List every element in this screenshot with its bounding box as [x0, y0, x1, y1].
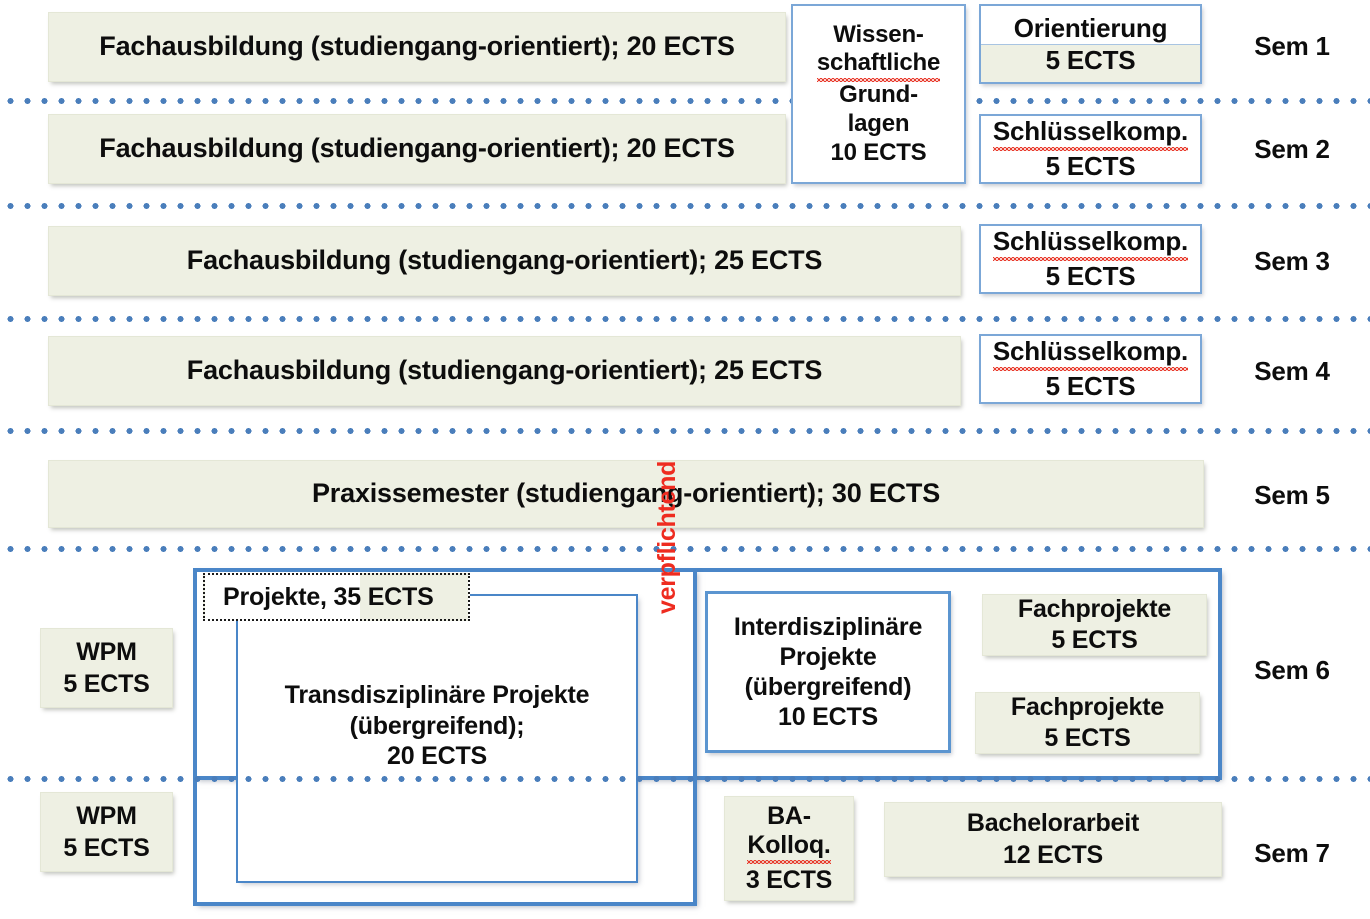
wg-ects: 10 ECTS: [831, 139, 927, 168]
semester-label-text: Sem 7: [1254, 838, 1330, 868]
orientierung-ects: 5 ECTS: [1046, 45, 1136, 76]
id-line1: Interdisziplinäre: [734, 612, 922, 642]
transdisziplinaer-text: Transdisziplinäre Projekte (übergreifend…: [236, 680, 638, 772]
td-ects: 20 ECTS: [236, 741, 638, 772]
verpflichtend-text: verpflichtend: [653, 461, 681, 614]
semester-separator-3-4: [0, 316, 1370, 322]
module-schluesselkomp-sem3[interactable]: Schlüsselkomp. 5 ECTS: [979, 224, 1202, 294]
semester-label-sem7: Sem 7: [1232, 838, 1352, 869]
semester-label-sem4: Sem 4: [1232, 356, 1352, 387]
semester-separator-4-5: [0, 428, 1370, 434]
module-fachprojekte-2[interactable]: Fachprojekte 5 ECTS: [975, 692, 1200, 754]
orientierung-name: Orientierung: [1014, 13, 1168, 44]
sk-name: Schlüsselkomp.: [993, 336, 1188, 367]
module-fachprojekte-1[interactable]: Fachprojekte 5 ECTS: [982, 594, 1207, 656]
wpm-ects: 5 ECTS: [63, 834, 149, 863]
wg-line3: Grund-: [839, 81, 918, 110]
orientierung-name-half: Orientierung: [981, 6, 1200, 45]
sk-ects: 5 ECTS: [1046, 371, 1136, 402]
ba-name: Bachelorarbeit: [967, 809, 1139, 838]
sk-name: Schlüsselkomp.: [993, 226, 1188, 257]
bak-line2: Kolloq.: [747, 831, 830, 860]
verpflichtend-label: verpflichtend: [653, 461, 682, 614]
id-line2: Projekte: [779, 642, 876, 672]
semester-separator-6-7: [0, 776, 1370, 782]
module-ba-kolloquium[interactable]: BA- Kolloq. 3 ECTS: [724, 796, 854, 901]
module-label: Fachausbildung (studiengang-orientiert);…: [187, 245, 822, 276]
module-label: Fachausbildung (studiengang-orientiert);…: [187, 355, 822, 386]
wpm-name: WPM: [76, 802, 137, 831]
semester-label-sem6: Sem 6: [1232, 655, 1352, 686]
semester-label-text: Sem 3: [1254, 246, 1330, 276]
sk-ects: 5 ECTS: [1046, 261, 1136, 292]
td-line1: Transdisziplinäre Projekte: [236, 680, 638, 711]
semester-label-text: Sem 6: [1254, 655, 1330, 685]
module-fachausbildung-sem3[interactable]: Fachausbildung (studiengang-orientiert);…: [48, 226, 961, 296]
projekte-group-label: Projekte, 35 ECTS: [203, 573, 470, 621]
module-praxissemester-sem5[interactable]: Praxissemester (studiengang-orientiert);…: [48, 460, 1204, 528]
semester-label-text: Sem 2: [1254, 134, 1330, 164]
sk-ects: 5 ECTS: [1046, 151, 1136, 182]
semester-separator-5-6: [0, 546, 1370, 552]
semester-label-text: Sem 4: [1254, 356, 1330, 386]
module-fachausbildung-sem1[interactable]: Fachausbildung (studiengang-orientiert);…: [48, 12, 786, 82]
module-wpm-sem7[interactable]: WPM 5 ECTS: [40, 792, 173, 872]
bak-line1: BA-: [767, 802, 811, 831]
id-ects: 10 ECTS: [778, 702, 878, 732]
wg-line4: lagen: [848, 110, 910, 139]
td-line2: (übergreifend);: [236, 711, 638, 742]
semester-label-sem5: Sem 5: [1232, 480, 1352, 511]
fp-ects: 5 ECTS: [1044, 724, 1130, 753]
module-wpm-sem6[interactable]: WPM 5 ECTS: [40, 628, 173, 708]
semester-separator-1-2: [0, 98, 1370, 104]
curriculum-diagram: Fachausbildung (studiengang-orientiert);…: [0, 0, 1370, 919]
wpm-name: WPM: [76, 638, 137, 667]
id-line3: (übergreifend): [745, 672, 912, 702]
fp-name: Fachprojekte: [1018, 595, 1171, 624]
fp-name: Fachprojekte: [1011, 693, 1164, 722]
sk-name: Schlüsselkomp.: [993, 116, 1188, 147]
semester-separator-2-3: [0, 203, 1370, 209]
module-schluesselkomp-sem4[interactable]: Schlüsselkomp. 5 ECTS: [979, 334, 1202, 404]
projekte-group-label-text: Projekte, 35 ECTS: [223, 583, 434, 612]
module-fachausbildung-sem2[interactable]: Fachausbildung (studiengang-orientiert);…: [48, 114, 786, 184]
module-orientierung[interactable]: Orientierung 5 ECTS: [979, 4, 1202, 84]
wpm-ects: 5 ECTS: [63, 670, 149, 699]
orientierung-ects-half: 5 ECTS: [981, 45, 1200, 83]
wg-line2: schaftliche: [817, 49, 940, 78]
semester-label-sem3: Sem 3: [1232, 246, 1352, 277]
semester-label-text: Sem 1: [1254, 31, 1330, 61]
ba-ects: 12 ECTS: [1003, 841, 1103, 870]
semester-label-sem2: Sem 2: [1232, 134, 1352, 165]
module-wissenschaftliche-grundlagen[interactable]: Wissen- schaftliche Grund- lagen 10 ECTS: [791, 4, 966, 184]
bak-ects: 3 ECTS: [746, 866, 832, 895]
semester-label-sem1: Sem 1: [1232, 31, 1352, 62]
fp-ects: 5 ECTS: [1051, 626, 1137, 655]
module-schluesselkomp-sem2[interactable]: Schlüsselkomp. 5 ECTS: [979, 114, 1202, 184]
module-label: Praxissemester (studiengang-orientiert);…: [312, 478, 940, 509]
semester-label-text: Sem 5: [1254, 480, 1330, 510]
module-label: Fachausbildung (studiengang-orientiert);…: [99, 133, 734, 164]
module-fachausbildung-sem4[interactable]: Fachausbildung (studiengang-orientiert);…: [48, 336, 961, 406]
module-bachelorarbeit[interactable]: Bachelorarbeit 12 ECTS: [884, 802, 1222, 877]
wg-line1: Wissen-: [833, 21, 923, 50]
module-interdisziplinaere-projekte[interactable]: Interdisziplinäre Projekte (übergreifend…: [705, 591, 951, 753]
module-label: Fachausbildung (studiengang-orientiert);…: [99, 31, 734, 62]
